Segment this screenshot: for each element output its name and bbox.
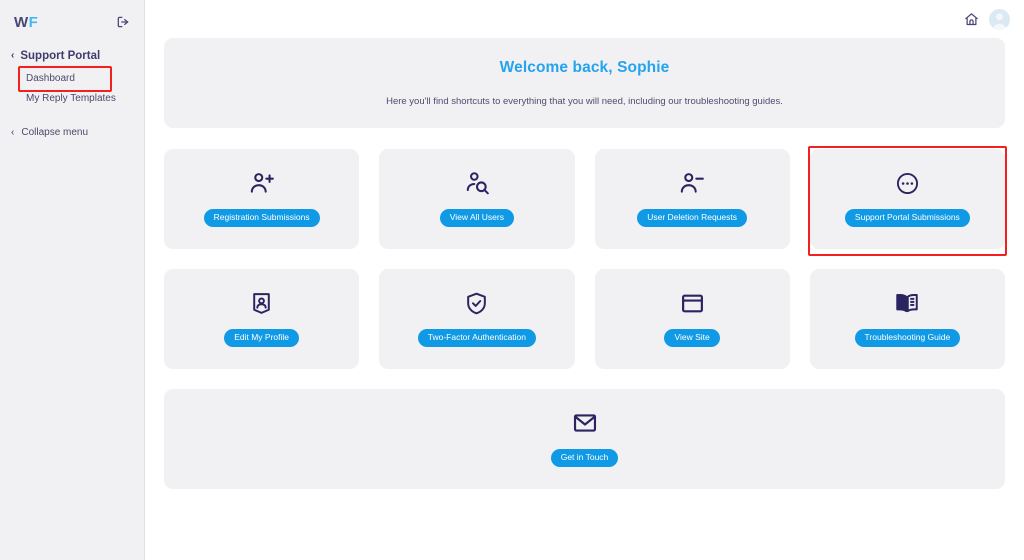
card-button[interactable]: View All Users	[440, 209, 514, 227]
card-button[interactable]: Get in Touch	[551, 449, 619, 467]
sidebar-item-my-reply-templates[interactable]: My Reply Templates	[0, 89, 144, 109]
card-button[interactable]: Registration Submissions	[204, 209, 320, 227]
main-content: Welcome back, Sophie Here you'll find sh…	[145, 0, 1024, 560]
sidebar-section-label: Support Portal	[20, 50, 100, 62]
card-button[interactable]: Support Portal Submissions	[845, 209, 970, 227]
sidebar-header: WF	[0, 0, 144, 34]
home-icon[interactable]	[964, 12, 979, 27]
card-view-site[interactable]: View Site	[595, 269, 790, 369]
card-get-in-touch[interactable]: Get in Touch	[164, 389, 1005, 489]
topbar	[145, 0, 1024, 38]
app-root: WF ‹ Support Portal Dashboard My Reply T…	[0, 0, 1024, 560]
collapse-menu-label: Collapse menu	[21, 127, 88, 138]
sidebar-item-label: Dashboard	[26, 73, 75, 84]
card-support-portal-submissions[interactable]: Support Portal Submissions	[810, 149, 1005, 249]
dashboard-content: Welcome back, Sophie Here you'll find sh…	[145, 38, 1024, 489]
card-button[interactable]: User Deletion Requests	[637, 209, 747, 227]
sidebar-item-dashboard[interactable]: Dashboard	[0, 69, 144, 89]
open-book-icon	[894, 291, 920, 315]
sidebar-item-label: My Reply Templates	[26, 93, 116, 104]
shield-check-icon	[464, 291, 489, 315]
card-two-factor-authentication[interactable]: Two-Factor Authentication	[379, 269, 574, 369]
user-minus-icon	[679, 171, 705, 195]
sidebar: WF ‹ Support Portal Dashboard My Reply T…	[0, 0, 145, 560]
banner-subtitle: Here you'll find shortcuts to everything…	[164, 96, 1005, 107]
card-button[interactable]: View Site	[664, 329, 719, 347]
card-edit-my-profile[interactable]: Edit My Profile	[164, 269, 359, 369]
chevron-left-icon: ‹	[11, 51, 14, 61]
card-button[interactable]: Two-Factor Authentication	[418, 329, 536, 347]
card-troubleshooting-guide[interactable]: Troubleshooting Guide	[810, 269, 1005, 369]
welcome-banner: Welcome back, Sophie Here you'll find sh…	[164, 38, 1005, 128]
collapse-menu-button[interactable]: ‹ Collapse menu	[0, 109, 144, 138]
id-badge-icon	[249, 291, 274, 315]
user-search-icon	[464, 171, 490, 195]
envelope-icon	[572, 411, 598, 435]
logo-text-primary: W	[14, 14, 29, 31]
shortcut-card-grid: Registration Submissions View All Users	[164, 149, 1005, 369]
logo-text-secondary: F	[29, 14, 39, 31]
avatar[interactable]	[989, 9, 1010, 30]
logout-icon[interactable]	[116, 15, 130, 29]
app-logo[interactable]: WF	[14, 15, 38, 30]
user-plus-icon	[249, 171, 275, 195]
card-view-all-users[interactable]: View All Users	[379, 149, 574, 249]
chevron-left-icon: ‹	[11, 128, 14, 138]
browser-window-icon	[680, 291, 705, 315]
sidebar-section-support-portal[interactable]: ‹ Support Portal	[0, 34, 144, 62]
card-button[interactable]: Troubleshooting Guide	[855, 329, 961, 347]
card-registration-submissions[interactable]: Registration Submissions	[164, 149, 359, 249]
chat-dots-circle-icon	[895, 171, 920, 195]
card-button[interactable]: Edit My Profile	[224, 329, 299, 347]
card-user-deletion-requests[interactable]: User Deletion Requests	[595, 149, 790, 249]
page-title: Welcome back, Sophie	[164, 59, 1005, 77]
sidebar-nav: Dashboard My Reply Templates	[0, 69, 144, 109]
